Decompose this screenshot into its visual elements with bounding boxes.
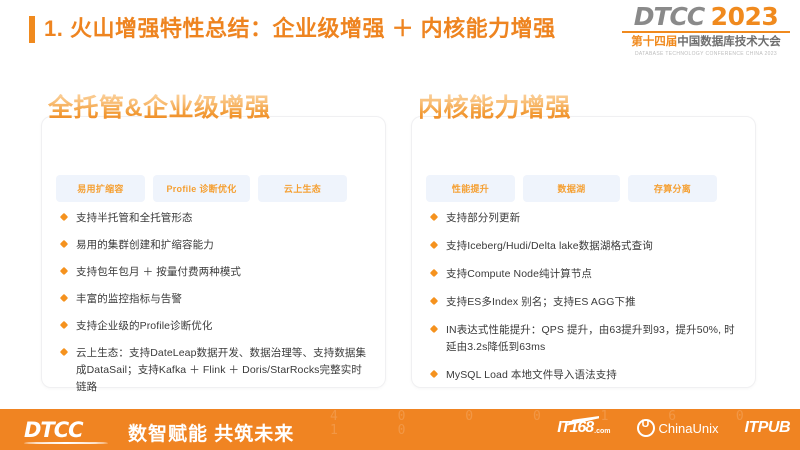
list-item: 支持半托管和全托管形态 [60,210,371,227]
diamond-bullet-icon [60,268,76,277]
logo-chinese-name: 第十四届中国数据库技术大会 [620,35,792,49]
diamond-bullet-icon [430,371,446,380]
it168-logo: IT168 .com [557,419,610,437]
logo-english-name: DATABASE TECHNOLOGY CONFERENCE CHINA 202… [620,50,792,58]
diamond-bullet-icon [430,326,446,335]
chinaunix-logo: ChinaUnix [637,419,719,437]
tag-chip[interactable]: 存算分离 [628,175,717,202]
tag-row-left: 易用扩缩容 Profile 诊断优化 云上生态 [56,175,371,202]
diamond-bullet-icon [60,349,76,358]
list-item: 支持部分列更新 [430,210,741,227]
list-item-text: 易用的集群创建和扩缩容能力 [76,237,214,254]
list-item: 支持企业级的Profile诊断优化 [60,318,371,335]
diamond-bullet-icon [430,242,446,251]
diamond-bullet-icon [60,241,76,250]
list-item: 丰富的监控指标与告警 [60,291,371,308]
list-item: 支持ES多Index 别名；支持ES AGG下推 [430,294,741,311]
slide-footer: 4 0 0 0 1 6 0 1 0 DTCC 数智赋能 共筑未来 IT168 .… [0,409,800,450]
footer-slogan: 数智赋能 共筑未来 [128,419,294,446]
logo-conference-name: 中国数据库技术大会 [677,36,781,48]
list-item-text: 支持包年包月 ＋ 按量付费两种模式 [76,264,241,281]
itpub-logo: ITPUB [745,419,791,437]
diamond-bullet-icon [60,295,76,304]
list-item-text: IN表达式性能提升：QPS 提升，由63提升到93，提升50%, 时延由3.2s… [446,322,741,356]
list-item-text: 支持企业级的Profile诊断优化 [76,318,212,335]
list-item: 易用的集群创建和扩缩容能力 [60,237,371,254]
diamond-bullet-icon [60,322,76,331]
tag-chip[interactable]: 数据湖 [523,175,620,202]
diamond-bullet-icon [60,214,76,223]
tag-chip[interactable]: 性能提升 [426,175,515,202]
list-item: 云上生态：支持DateLeap数据开发、数据治理等、支持数据集成DataSail… [60,345,371,396]
itpub-logo-text: ITPUB [745,419,791,437]
diamond-bullet-icon [430,270,446,279]
list-item-text: 支持Iceberg/Hudi/Delta lake数据湖格式查询 [446,238,653,255]
panel-kernel-capability: 性能提升 数据湖 存算分离 支持部分列更新 支持Iceberg/Hudi/Del… [411,116,756,388]
chinaunix-logo-text: ChinaUnix [659,421,719,436]
logo-edition: 第十四届 [631,36,677,48]
list-item-text: 支持半托管和全托管形态 [76,210,193,227]
list-item-text: 支持ES多Index 别名；支持ES AGG下推 [446,294,636,311]
list-item-text: 丰富的监控指标与告警 [76,291,182,308]
list-item: MySQL Load 本地文件导入语法支持 [430,367,741,384]
list-item-text: 支持部分列更新 [446,210,520,227]
list-item-text: MySQL Load 本地文件导入语法支持 [446,367,617,384]
diamond-bullet-icon [430,298,446,307]
logo-year: 2023 [711,2,779,31]
partner-logos: IT168 .com ChinaUnix ITPUB [557,419,790,437]
bullet-list-right: 支持部分列更新 支持Iceberg/Hudi/Delta lake数据湖格式查询… [430,210,741,395]
list-item: IN表达式性能提升：QPS 提升，由63提升到93，提升50%, 时延由3.2s… [430,322,741,356]
footer-brand-underline [24,442,108,444]
list-item-text: 支持Compute Node纯计算节点 [446,266,592,283]
list-item-text: 云上生态：支持DateLeap数据开发、数据治理等、支持数据集成DataSail… [76,345,371,396]
header-accent-bar [29,16,35,43]
list-item: 支持Iceberg/Hudi/Delta lake数据湖格式查询 [430,238,741,255]
conference-logo: DTCC 2023 第十四届中国数据库技术大会 DATABASE TECHNOL… [620,4,792,58]
slide-header: 1. 火山增强特性总结：企业级增强 ＋ 内核能力增强 DTCC 2023 第十四… [0,0,800,62]
logo-top-row: DTCC 2023 [620,4,792,30]
tag-chip[interactable]: 易用扩缩容 [56,175,145,202]
logo-brand: DTCC [634,2,705,31]
page-title: 1. 火山增强特性总结：企业级增强 ＋ 内核能力增强 [44,13,556,45]
tag-chip[interactable]: 云上生态 [258,175,347,202]
list-item: 支持包年包月 ＋ 按量付费两种模式 [60,264,371,281]
it168-logo-suffix: .com [594,428,610,435]
footer-brand: DTCC [24,418,83,442]
logo-divider [622,31,790,33]
diamond-bullet-icon [430,214,446,223]
chinaunix-mark-icon [637,419,655,437]
list-item: 支持Compute Node纯计算节点 [430,266,741,283]
panel-full-managed: 易用扩缩容 Profile 诊断优化 云上生态 支持半托管和全托管形态 易用的集… [41,116,386,388]
bullet-list-left: 支持半托管和全托管形态 易用的集群创建和扩缩容能力 支持包年包月 ＋ 按量付费两… [60,210,371,406]
panel-title-left: 全托管&企业级增强 [48,88,271,124]
panel-title-right: 内核能力增强 [418,88,571,124]
tag-chip[interactable]: Profile 诊断优化 [153,175,250,202]
tag-row-right: 性能提升 数据湖 存算分离 [426,175,741,202]
